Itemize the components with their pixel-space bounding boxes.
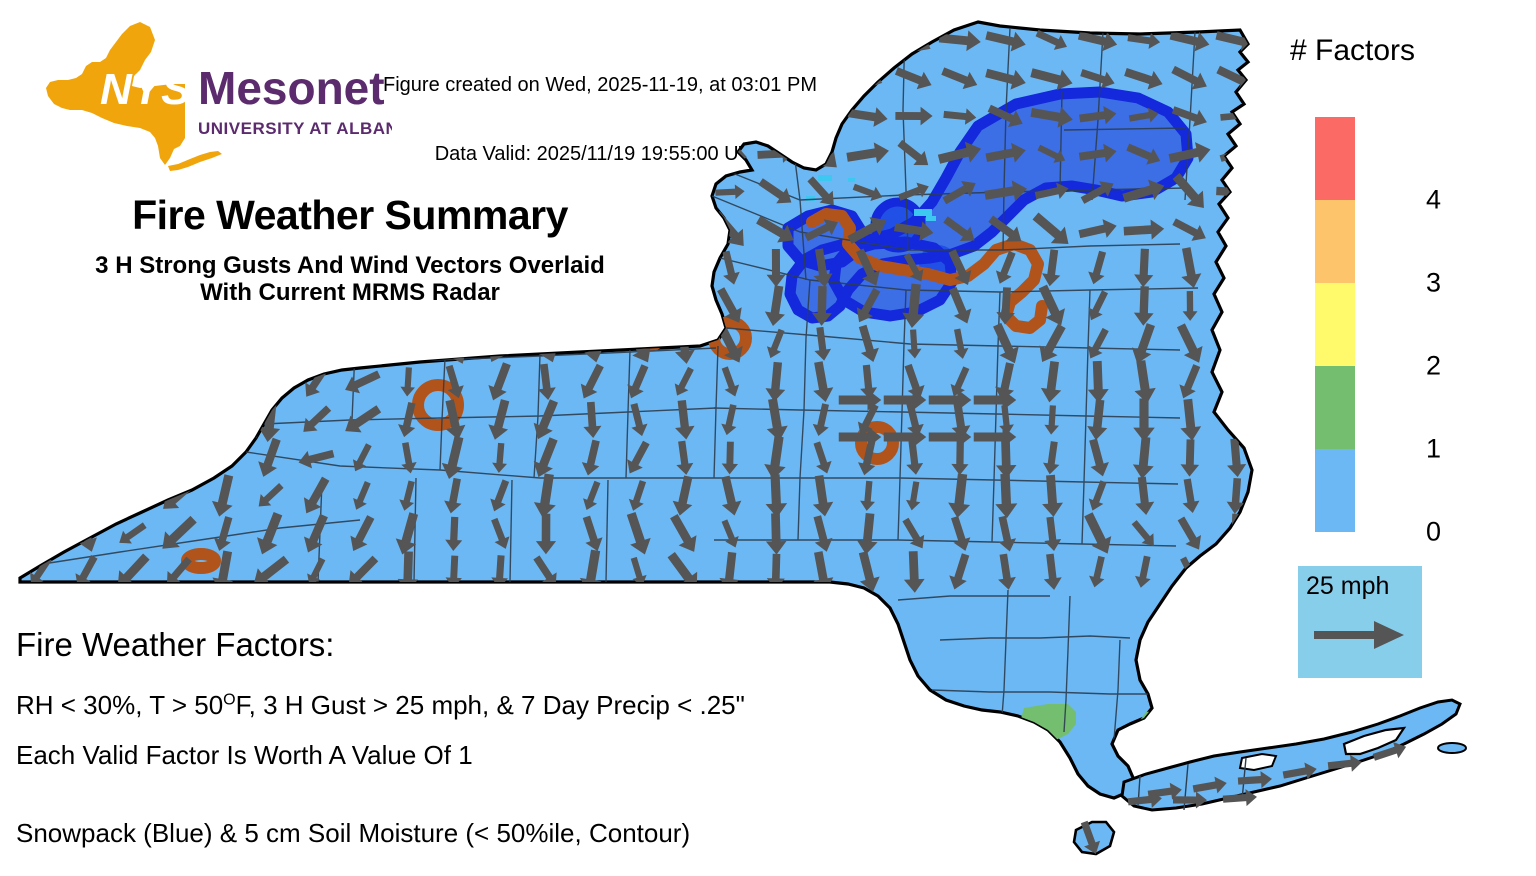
wind-arrow — [344, 56, 380, 100]
wind-arrow — [22, 364, 58, 399]
wind-arrow — [805, 27, 838, 52]
wind-arrow — [23, 440, 57, 477]
wind-arrow — [568, 138, 615, 170]
wind-arrow — [113, 16, 150, 63]
wind-arrow — [206, 359, 242, 404]
wind-arrow — [75, 440, 98, 475]
colorbar-band-4 — [1315, 117, 1355, 200]
wind-arrow — [664, 178, 704, 206]
wind-arrow — [117, 440, 148, 475]
wind-arrow — [121, 209, 144, 250]
wind-arrow — [305, 252, 327, 284]
factor-1-patch-west2 — [228, 386, 238, 394]
wind-arrow — [349, 135, 375, 173]
colorbar-title: # Factors — [1290, 34, 1490, 68]
wind-arrow — [390, 103, 426, 129]
wind-arrow — [528, 284, 564, 329]
wind-arrow — [1227, 327, 1244, 360]
wind-arrow — [391, 145, 424, 163]
wind-arrow — [65, 363, 107, 401]
wind-arrow — [663, 140, 704, 169]
wind-arrow — [662, 65, 706, 91]
wind-arrow — [304, 322, 328, 367]
wind-arrow — [24, 403, 55, 438]
colorbar-tick-labels: 43210 — [1364, 117, 1434, 532]
wind-arrow — [256, 326, 283, 361]
wind-arrow — [251, 206, 290, 254]
wind-arrow — [253, 252, 287, 284]
wind-arrow — [484, 217, 517, 243]
wind-arrow — [445, 291, 462, 321]
wind-arrow — [22, 287, 58, 325]
wind-arrow — [618, 214, 658, 245]
wind-arrow — [707, 100, 753, 133]
wind-arrow — [250, 177, 290, 207]
wind-arrow — [299, 143, 332, 165]
wind-arrow — [339, 323, 386, 366]
wind-arrow — [70, 322, 102, 365]
wind-arrow — [523, 24, 569, 56]
wind-arrow — [528, 105, 565, 127]
criteria-degree-symbol: O — [223, 691, 235, 708]
wind-arrow — [204, 140, 244, 169]
wind-arrow — [1224, 365, 1249, 399]
radar-echo-3 — [914, 209, 932, 216]
wind-arrow — [255, 138, 284, 170]
wind-arrow — [25, 251, 55, 285]
wind-arrow — [621, 145, 655, 162]
wind-arrow — [484, 144, 516, 164]
fire-weather-criteria-line: RH < 30%, T > 50OF, 3 H Gust > 25 mph, &… — [16, 690, 745, 721]
wind-arrow — [66, 102, 106, 130]
wind-arrow — [156, 22, 201, 59]
wind-arrow — [347, 175, 378, 210]
wind-arrow — [158, 215, 197, 245]
overlay-description-line: Snowpack (Blue) & 5 cm Soil Moisture (< … — [16, 818, 690, 849]
wind-arrow — [435, 67, 474, 89]
criteria-prefix: RH < 30%, T > 50 — [16, 690, 223, 720]
wind-arrow — [392, 181, 425, 202]
wind-arrow — [16, 473, 63, 519]
radar-echo-4 — [926, 216, 936, 221]
wind-arrow — [482, 177, 519, 206]
fire-weather-factors-heading: Fire Weather Factors: — [16, 626, 334, 664]
long-island-small-isle — [1438, 743, 1466, 753]
wind-arrow — [389, 244, 427, 293]
wind-arrow — [625, 287, 652, 324]
wind-arrow — [21, 22, 59, 58]
wind-legend-label: 25 mph — [1306, 572, 1389, 601]
wind-arrow — [300, 285, 331, 327]
wind-arrow — [346, 215, 379, 246]
wind-arrow — [431, 26, 477, 54]
wind-arrow — [62, 477, 111, 515]
wind-arrow — [434, 104, 474, 128]
wind-arrow — [116, 481, 148, 512]
wind-arrow — [526, 137, 567, 170]
wind-arrow — [157, 247, 200, 289]
wind-arrow — [69, 283, 103, 329]
wind-arrow — [114, 359, 150, 404]
wind-arrow — [342, 289, 382, 324]
wind-arrow — [305, 173, 326, 210]
wind-arrow — [707, 59, 753, 96]
wind-arrow — [201, 285, 248, 327]
wind-arrow — [155, 323, 200, 366]
wind-arrow — [483, 246, 517, 290]
wind-arrow — [805, 69, 839, 87]
wind-arrow — [205, 96, 242, 137]
wind-arrow — [253, 58, 286, 98]
radar-echo-1 — [818, 175, 832, 181]
wind-arrow — [155, 61, 201, 94]
wind-arrow — [621, 179, 655, 205]
wind-arrow — [345, 249, 380, 286]
wind-arrow — [113, 98, 150, 135]
colorbar-band-3 — [1315, 200, 1355, 283]
wind-arrow — [159, 434, 198, 483]
wind-arrow — [160, 359, 196, 405]
wind-arrow — [343, 101, 382, 131]
colorbar-tick-4: 4 — [1426, 185, 1441, 216]
figure-root: Figure created on Wed, 2025-11-19, at 03… — [0, 0, 1536, 876]
wind-arrow — [167, 135, 188, 173]
wind-arrow — [707, 28, 752, 52]
wind-arrow — [18, 510, 61, 559]
wind-arrow — [295, 59, 336, 97]
wind-arrow — [66, 404, 106, 436]
wind-arrow — [760, 68, 792, 89]
wind-arrow — [578, 247, 606, 289]
wind-arrow — [113, 176, 152, 208]
wind-arrow — [65, 176, 108, 208]
wind-arrow — [483, 31, 517, 49]
wind-arrow — [485, 287, 515, 325]
wind-arrow — [806, 105, 838, 128]
map-mainland — [16, 16, 1258, 798]
wind-arrow — [19, 56, 61, 99]
wind-arrow — [120, 324, 144, 363]
colorbar-tick-3: 3 — [1426, 268, 1441, 299]
wind-arrow-icon — [1312, 618, 1408, 652]
wind-arrow — [114, 246, 150, 290]
criteria-suffix: F, 3 H Gust > 25 mph, & 7 Day Precip < .… — [236, 690, 745, 720]
wind-arrow — [211, 403, 237, 436]
wind-arrow — [433, 137, 475, 171]
wind-arrow — [202, 168, 246, 216]
wind-arrow — [622, 32, 655, 49]
wind-arrow — [528, 177, 563, 208]
wind-arrow — [395, 287, 422, 325]
wind-arrow — [577, 288, 606, 323]
wind-arrow — [570, 61, 615, 96]
wind-arrow — [391, 322, 426, 366]
wind-arrow — [667, 105, 700, 127]
wind-arrow — [65, 206, 108, 254]
wind-arrow — [671, 250, 698, 286]
wind-arrow — [434, 177, 475, 208]
wind-arrow — [65, 57, 106, 99]
wind-arrow — [254, 362, 286, 402]
wind-arrow — [110, 286, 153, 327]
wind-arrow — [115, 134, 148, 173]
wind-arrow — [756, 101, 797, 130]
wind-arrow — [624, 248, 652, 287]
wind-arrow — [299, 25, 333, 56]
wind-arrow — [759, 27, 793, 53]
radar-echo-5 — [848, 178, 855, 182]
wind-arrow — [569, 26, 615, 55]
wind-arrow — [667, 219, 702, 240]
wind-arrow — [848, 30, 887, 50]
wind-arrow — [210, 61, 238, 95]
wind-arrow — [255, 25, 286, 56]
wind-arrow — [619, 106, 656, 126]
wind-arrow — [160, 97, 197, 135]
wind-arrow — [65, 20, 106, 60]
wind-arrow — [209, 251, 239, 285]
wind-arrow — [111, 62, 152, 93]
wind-arrow — [116, 399, 148, 440]
wind-arrow — [433, 215, 474, 245]
wind-arrow — [391, 67, 425, 89]
colorbar-tick-0: 0 — [1426, 517, 1441, 548]
colorbar-tick-1: 1 — [1426, 434, 1441, 465]
wind-arrow — [442, 249, 465, 287]
wind-arrow — [664, 29, 705, 50]
wind-arrow — [206, 216, 243, 244]
soil-contour-ring-a — [636, 317, 664, 345]
wind-arrow — [525, 65, 567, 90]
wind-arrow — [616, 63, 659, 93]
wind-arrow — [481, 106, 519, 127]
wind-arrow — [200, 326, 249, 362]
wind-arrow — [534, 251, 558, 284]
wind-arrow — [1221, 549, 1251, 595]
wind-speed-legend: 25 mph — [1298, 566, 1422, 678]
factors-colorbar — [1315, 117, 1355, 532]
wind-arrow — [246, 286, 294, 326]
wind-arrow — [18, 95, 62, 136]
wind-arrow — [674, 287, 694, 325]
colorbar-band-1 — [1315, 366, 1355, 449]
wind-arrow — [573, 104, 610, 128]
wind-arrow — [159, 286, 197, 325]
wind-arrow — [252, 97, 287, 136]
wind-arrow — [385, 26, 430, 55]
wind-arrow — [1220, 283, 1252, 329]
wind-arrow — [205, 18, 244, 62]
wind-arrow — [158, 397, 198, 443]
factor-1-patch-west — [224, 392, 244, 412]
wind-arrow — [305, 208, 328, 252]
wind-arrow — [23, 329, 57, 359]
wind-arrow — [480, 65, 519, 90]
wind-arrow — [62, 246, 110, 291]
wind-arrow — [21, 212, 59, 247]
colorbar-band-2 — [1315, 283, 1355, 366]
wind-arrow — [70, 136, 101, 171]
wind-arrow — [342, 24, 382, 56]
colorbar-band-0 — [1315, 449, 1355, 532]
wind-arrow — [154, 174, 201, 210]
wind-arrow — [574, 219, 610, 241]
factor-value-line: Each Valid Factor Is Worth A Value Of 1 — [16, 740, 473, 771]
wind-arrow — [21, 130, 59, 179]
wind-arrow — [302, 100, 329, 133]
wind-arrow — [576, 179, 609, 205]
wind-arrow — [523, 210, 569, 251]
wind-arrow — [390, 218, 426, 242]
colorbar-tick-2: 2 — [1426, 351, 1441, 382]
wind-arrow — [23, 181, 56, 202]
wind-arrow — [1227, 251, 1244, 284]
